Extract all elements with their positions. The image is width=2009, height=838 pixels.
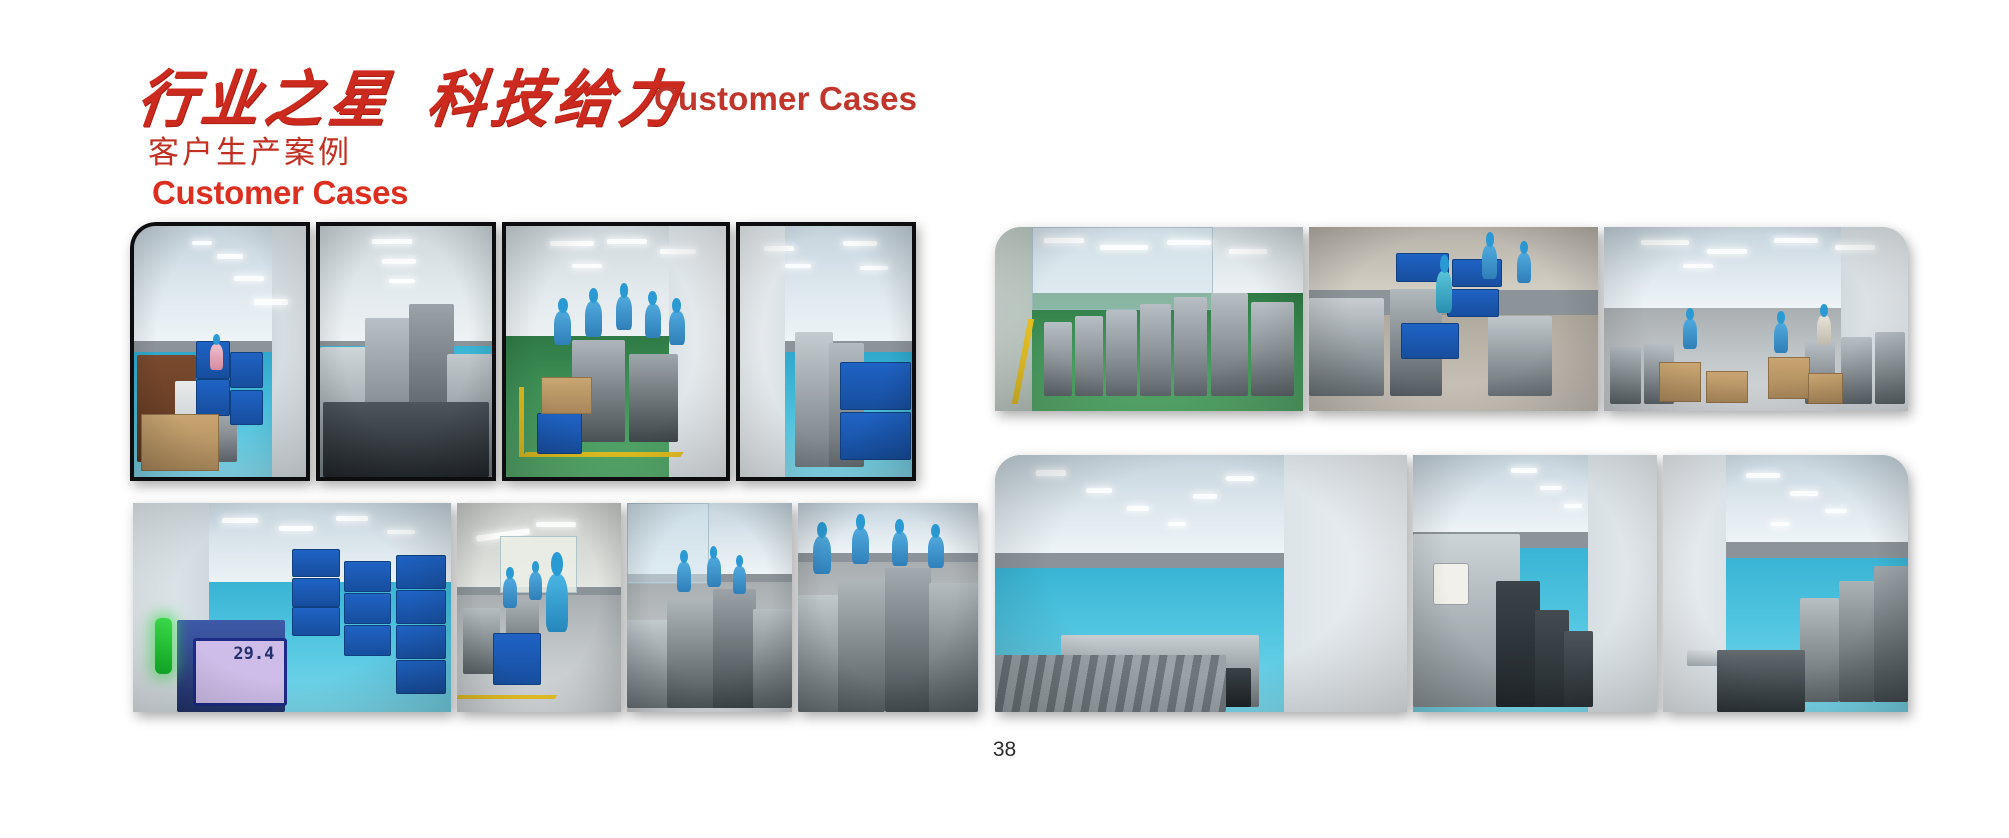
row2-left-cluster: 29.4 — [133, 503, 978, 712]
photo-scene: 29.4 — [133, 503, 451, 712]
photo-corridor-blue[interactable] — [995, 455, 1407, 712]
photo-scene — [320, 226, 492, 477]
photo-aisle-cyan[interactable] — [736, 222, 916, 481]
photo-line-workers[interactable] — [798, 503, 978, 712]
calligraphy-title-part2: 科技给力 — [423, 65, 687, 134]
row1-right-cluster — [995, 227, 1908, 411]
row2-right-cluster — [995, 455, 1908, 712]
vignette — [740, 226, 912, 477]
vignette — [995, 227, 1303, 411]
vignette — [320, 226, 492, 477]
vignette — [133, 503, 451, 712]
photo-scene — [134, 226, 306, 477]
vignette — [798, 503, 978, 712]
photo-operator-grey[interactable] — [457, 503, 622, 712]
photo-scene — [1309, 227, 1598, 411]
vignette — [134, 226, 306, 477]
calligraphy-title: 行业之星科技给力 — [133, 49, 690, 138]
photo-panel-blue[interactable]: 29.4 — [133, 503, 451, 712]
calligraphy-title-part1: 行业之星 — [133, 65, 397, 134]
photo-scene — [798, 503, 978, 712]
photo-scene — [457, 503, 622, 712]
photo-scene — [995, 455, 1407, 712]
photo-scene — [1663, 455, 1908, 712]
slide-header: 行业之星科技给力 Customer Cases 客户生产案例 Customer … — [0, 0, 2009, 215]
vignette — [1604, 227, 1908, 411]
photo-machines-grey[interactable] — [627, 503, 792, 712]
vignette — [1413, 455, 1656, 712]
page-number: 38 — [0, 738, 2009, 762]
header-english-title-bold: Customer Cases — [152, 174, 408, 212]
photo-packing-grey[interactable] — [1309, 227, 1598, 411]
photo-machine-row-cyan[interactable] — [316, 222, 496, 481]
header-english-title-light: Customer Cases — [654, 80, 917, 118]
vignette — [627, 503, 792, 712]
vignette — [1309, 227, 1598, 411]
vignette — [457, 503, 622, 712]
vignette — [995, 455, 1407, 712]
photo-scene — [740, 226, 912, 477]
vignette — [1663, 455, 1908, 712]
photo-scene — [995, 227, 1303, 411]
header-chinese-subtitle: 客户生产案例 — [148, 127, 352, 172]
photo-bench-blue[interactable] — [1663, 455, 1908, 712]
photo-scene — [1413, 455, 1656, 712]
photo-cabinets-blue[interactable] — [1413, 455, 1656, 712]
photo-corridor-cyan[interactable] — [130, 222, 310, 481]
row1-left-cluster — [130, 222, 978, 481]
photo-scene — [627, 503, 792, 712]
photo-scene — [506, 226, 726, 477]
photo-scene — [1604, 227, 1908, 411]
photo-workers-green[interactable] — [502, 222, 730, 481]
photo-long-line-green[interactable] — [995, 227, 1303, 411]
vignette — [506, 226, 726, 477]
photo-workshop-grey[interactable] — [1604, 227, 1908, 411]
